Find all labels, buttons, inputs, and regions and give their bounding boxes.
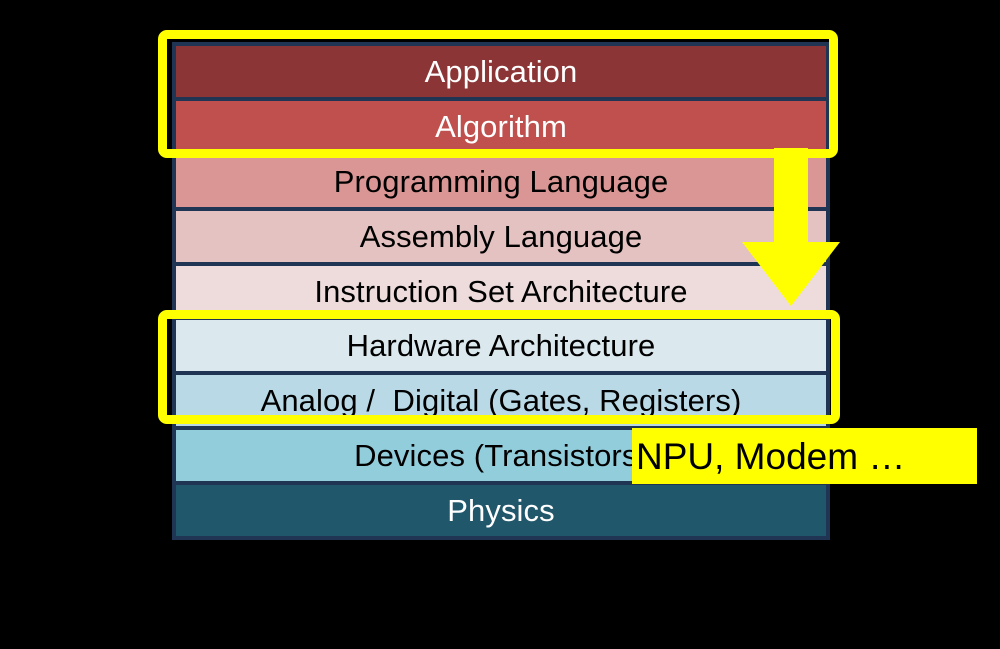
npu-modem-callout-label: NPU, Modem … — [636, 438, 905, 475]
stack-layer-algorithm[interactable]: Algorithm — [176, 101, 826, 156]
stack-layer-label: Application — [425, 56, 578, 87]
stack-layer-label: Physics — [447, 495, 555, 526]
stack-layer-label: Programming Language — [334, 166, 669, 197]
stack-layer-label: Devices (Transistors) — [354, 440, 648, 471]
stack-layer-label: Algorithm — [435, 111, 567, 142]
stack-layer-label: Analog / Digital (Gates, Registers) — [261, 385, 742, 416]
diagram-canvas: Application Algorithm Programming Langua… — [0, 0, 1000, 649]
stack-layer-label: Instruction Set Architecture — [314, 276, 687, 307]
stack-layer-programming-language[interactable]: Programming Language — [176, 156, 826, 211]
stack-layer-assembly-language[interactable]: Assembly Language — [176, 211, 826, 266]
stack-layer-instruction-set-architecture[interactable]: Instruction Set Architecture — [176, 266, 826, 321]
stack-layer-physics[interactable]: Physics — [176, 485, 826, 536]
stack-layer-analog-digital[interactable]: Analog / Digital (Gates, Registers) — [176, 375, 826, 430]
stack-layer-label: Assembly Language — [360, 221, 643, 252]
stack-layer-label: Hardware Architecture — [347, 330, 656, 361]
stack-layer-hardware-architecture[interactable]: Hardware Architecture — [176, 320, 826, 375]
npu-modem-callout[interactable]: NPU, Modem … — [632, 428, 977, 484]
stack-layer-application[interactable]: Application — [176, 46, 826, 101]
